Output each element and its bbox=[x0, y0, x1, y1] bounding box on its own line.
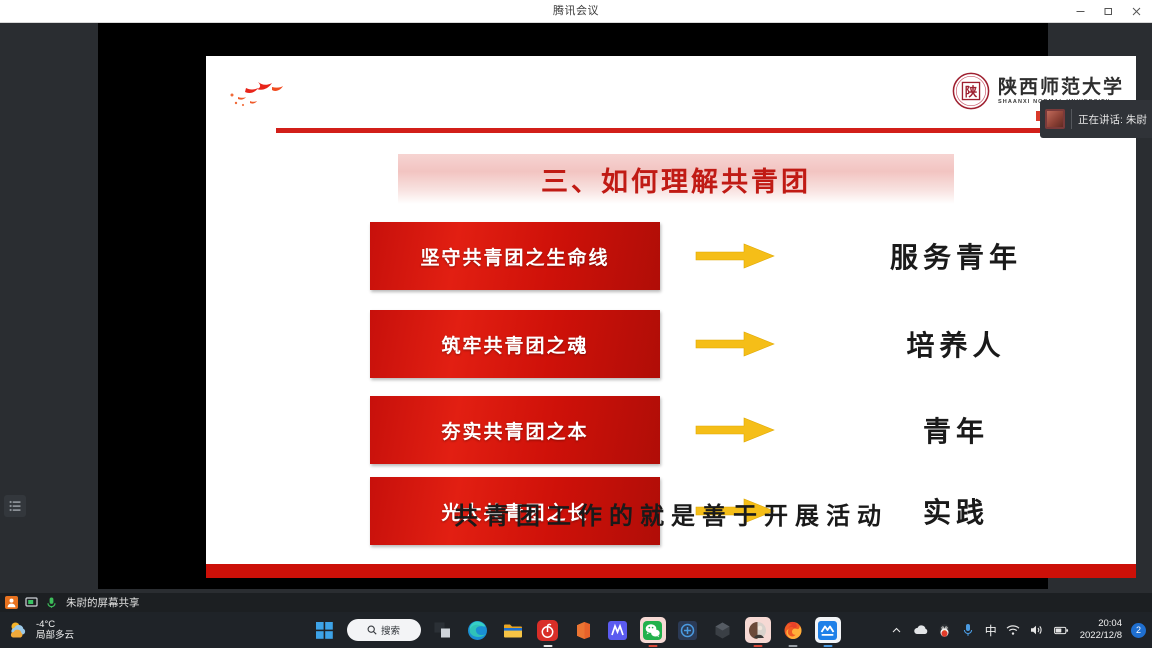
result-text: 培养人 bbox=[806, 324, 1106, 364]
result-text: 青年 bbox=[806, 410, 1106, 450]
clock-date: 2022/12/8 bbox=[1080, 630, 1122, 642]
volume-icon[interactable] bbox=[1030, 623, 1045, 638]
hexagon-app-button[interactable] bbox=[710, 617, 736, 643]
plus-app-button[interactable] bbox=[675, 617, 701, 643]
presentation-slide: 陕 陕西师范大学 SHAANXI NORMAL UNIVERSITY 三、如何理… bbox=[206, 56, 1136, 578]
firefox-button[interactable] bbox=[780, 617, 806, 643]
slide-title-banner: 三、如何理解共青团 bbox=[398, 154, 954, 204]
wechat-button[interactable] bbox=[640, 617, 666, 643]
running-indicator bbox=[788, 645, 797, 648]
result-text: 服务青年 bbox=[806, 236, 1106, 276]
slide-bottom-bar bbox=[206, 564, 1136, 578]
office-button[interactable] bbox=[570, 617, 596, 643]
red-box: 坚守共青团之生命线 bbox=[370, 222, 660, 290]
system-tray: 中 20:04 2022/12/8 2 bbox=[889, 612, 1146, 648]
running-indicator bbox=[823, 645, 832, 648]
red-box-label: 夯实共青团之本 bbox=[441, 417, 588, 444]
university-seal-icon: 陕 bbox=[952, 72, 990, 110]
arrow-right-icon bbox=[694, 329, 778, 359]
windows-taskbar: -4°C 局部多云 搜索 bbox=[0, 612, 1152, 648]
microphone-icon[interactable] bbox=[961, 623, 976, 638]
search-icon bbox=[367, 625, 377, 635]
divider bbox=[1071, 109, 1072, 129]
battery-icon[interactable] bbox=[1054, 623, 1069, 638]
slide-row: 筑牢共青团之魂 培养人 bbox=[206, 310, 1136, 378]
minimize-button[interactable] bbox=[1066, 0, 1094, 23]
bird-flock-decoration bbox=[228, 78, 298, 112]
window-title: 腾讯会议 bbox=[0, 0, 1152, 23]
notification-badge[interactable]: 2 bbox=[1131, 623, 1146, 638]
slide-caption: 共青团工作的就是善于开展活动 bbox=[206, 496, 1136, 531]
arrow-right-icon bbox=[694, 241, 778, 271]
search-box[interactable]: 搜索 bbox=[347, 619, 421, 641]
close-button[interactable] bbox=[1122, 0, 1150, 23]
university-name-cn: 陕西师范大学 bbox=[998, 77, 1124, 98]
chevron-up-icon[interactable] bbox=[889, 623, 904, 638]
slide-row: 坚守共青团之生命线 服务青年 bbox=[206, 222, 1136, 290]
wifi-icon[interactable] bbox=[1006, 623, 1021, 638]
slide-title: 三、如何理解共青团 bbox=[541, 160, 811, 199]
qq-penguin-icon[interactable] bbox=[937, 623, 952, 638]
maximize-button[interactable] bbox=[1094, 0, 1122, 23]
shared-screen-stage: 陕 陕西师范大学 SHAANXI NORMAL UNIVERSITY 三、如何理… bbox=[98, 23, 1048, 589]
screen-share-icon[interactable] bbox=[24, 596, 38, 610]
task-view-button[interactable] bbox=[430, 617, 456, 643]
start-button[interactable] bbox=[312, 617, 338, 643]
ime-indicator[interactable]: 中 bbox=[985, 622, 997, 639]
slide-row: 夯实共青团之本 青年 bbox=[206, 396, 1136, 464]
red-box: 筑牢共青团之魂 bbox=[370, 310, 660, 378]
netease-music-button[interactable] bbox=[535, 617, 561, 643]
running-indicator bbox=[543, 645, 552, 648]
clock-time: 20:04 bbox=[1098, 618, 1122, 630]
running-indicator bbox=[753, 645, 762, 648]
svg-text:陕: 陕 bbox=[965, 84, 978, 99]
header-rule bbox=[276, 128, 1136, 133]
file-explorer-button[interactable] bbox=[500, 617, 526, 643]
app-blue-button[interactable] bbox=[605, 617, 631, 643]
arrow-right-icon bbox=[694, 415, 778, 445]
cloud-icon[interactable] bbox=[913, 623, 928, 638]
meeting-left-rail bbox=[0, 23, 28, 612]
red-box-label: 坚守共青团之生命线 bbox=[420, 243, 609, 270]
window-title-bar: 腾讯会议 bbox=[0, 0, 1152, 23]
microphone-icon[interactable] bbox=[44, 596, 58, 610]
red-box-label: 筑牢共青团之魂 bbox=[441, 331, 588, 358]
active-speaker-label: 正在讲话: 朱尉 bbox=[1078, 112, 1147, 127]
edge-button[interactable] bbox=[465, 617, 491, 643]
participant-list-icon[interactable] bbox=[4, 495, 26, 517]
screen-share-text: 朱尉的屏幕共享 bbox=[66, 595, 140, 610]
active-speaker-panel[interactable]: 正在讲话: 朱尉 bbox=[1040, 100, 1152, 138]
clock[interactable]: 20:04 2022/12/8 bbox=[1080, 618, 1122, 642]
meeting-viewport: 陕 陕西师范大学 SHAANXI NORMAL UNIVERSITY 三、如何理… bbox=[0, 23, 1152, 612]
screen-share-status-bar: 朱尉的屏幕共享 bbox=[0, 593, 1152, 612]
meeting-button[interactable] bbox=[815, 617, 841, 643]
search-placeholder: 搜索 bbox=[381, 623, 400, 637]
window-controls bbox=[1066, 0, 1150, 23]
person-icon bbox=[4, 596, 18, 610]
running-indicator bbox=[648, 645, 657, 648]
avatar-app-button[interactable] bbox=[745, 617, 771, 643]
red-box: 夯实共青团之本 bbox=[370, 396, 660, 464]
avatar bbox=[1045, 109, 1065, 129]
